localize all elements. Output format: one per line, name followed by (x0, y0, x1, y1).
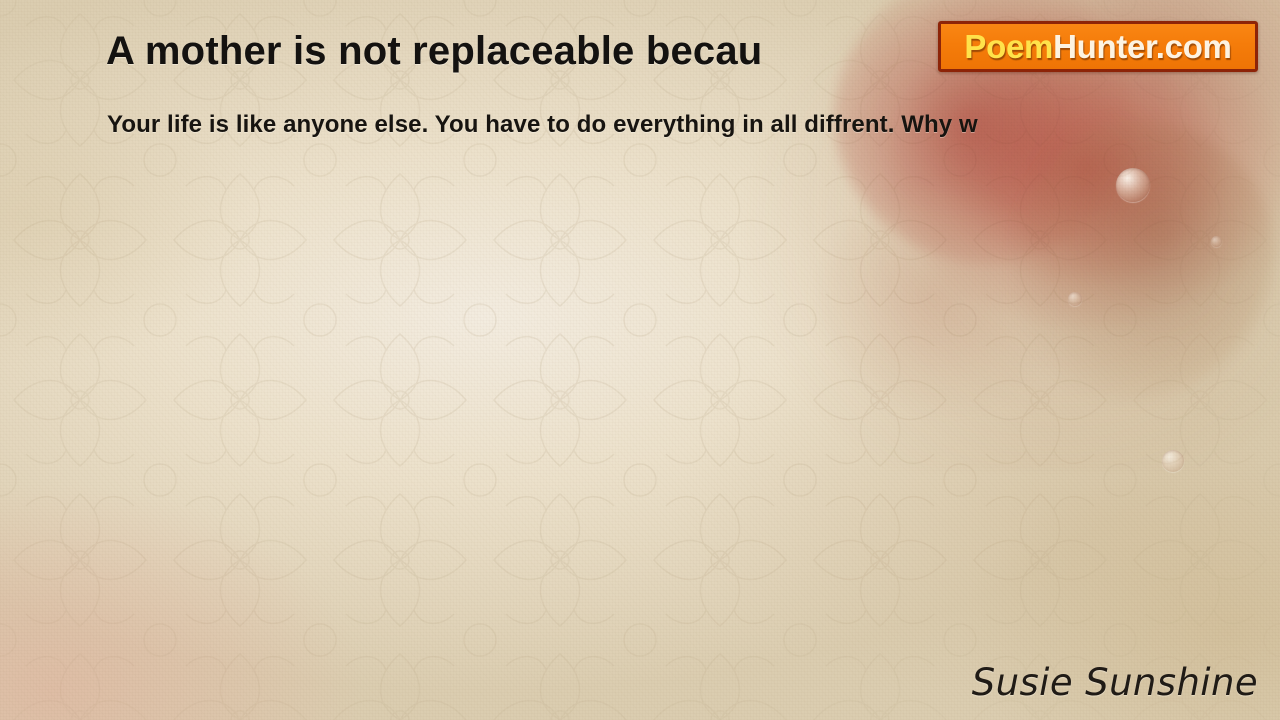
poem-author: Susie Sunshine (972, 661, 1258, 704)
paper-grain-overlay (0, 0, 1280, 720)
watermark-brand-secondary: Hunter.com (1053, 28, 1232, 65)
poem-title: A mother is not replaceable becau (106, 29, 762, 74)
poem-body-line: Your life is like anyone else. You have … (107, 111, 978, 140)
watermark-brand-primary: Poem (964, 28, 1053, 65)
poem-card-canvas: A mother is not replaceable becau Your l… (0, 0, 1280, 720)
poemhunter-watermark-badge[interactable]: PoemHunter.com (938, 21, 1258, 72)
